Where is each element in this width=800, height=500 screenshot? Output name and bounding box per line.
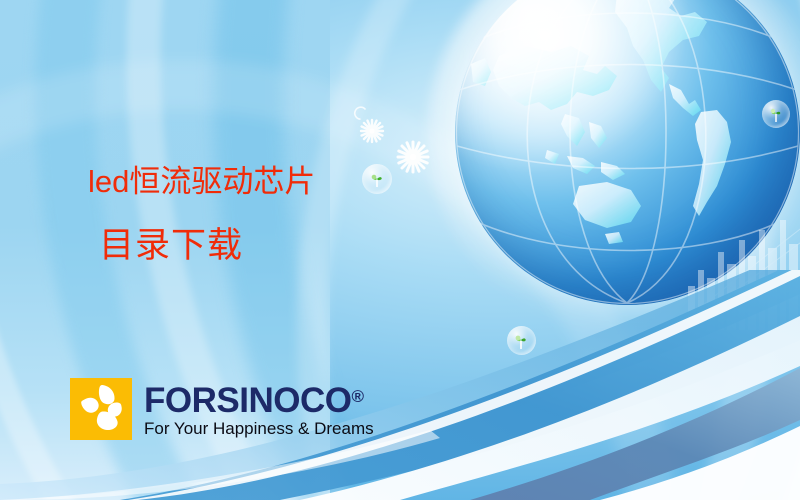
logo-text-block: FORSINOCO® For Your Happiness & Dreams [144,378,374,438]
globe-group [455,0,800,310]
headline-line-1: led恒流驱动芯片 [88,166,315,197]
brand-wordmark: FORSINOCO® [144,380,374,418]
brand-name: FORSINOCO [144,381,351,420]
starburst-icon [396,140,430,174]
bubble-globe-icon [762,100,790,128]
bubble-leaf-icon [362,164,392,194]
headline: led恒流驱动芯片 目录下载 [88,166,315,263]
starburst-icon [359,118,385,144]
bubble-leaf-icon [762,100,790,128]
brand-tagline: For Your Happiness & Dreams [144,419,374,438]
bubble-globe-icon [362,164,392,194]
banner-image: led恒流驱动芯片 目录下载 FORSINOCO® For Your Happi… [0,0,800,500]
brand-logo[interactable]: FORSINOCO® For Your Happiness & Dreams [70,378,374,440]
registered-trademark-icon: ® [351,387,364,406]
arc-swirl-icon [353,106,368,121]
four-petal-flower-icon [70,378,132,440]
headline-line-2: 目录下载 [99,228,315,263]
